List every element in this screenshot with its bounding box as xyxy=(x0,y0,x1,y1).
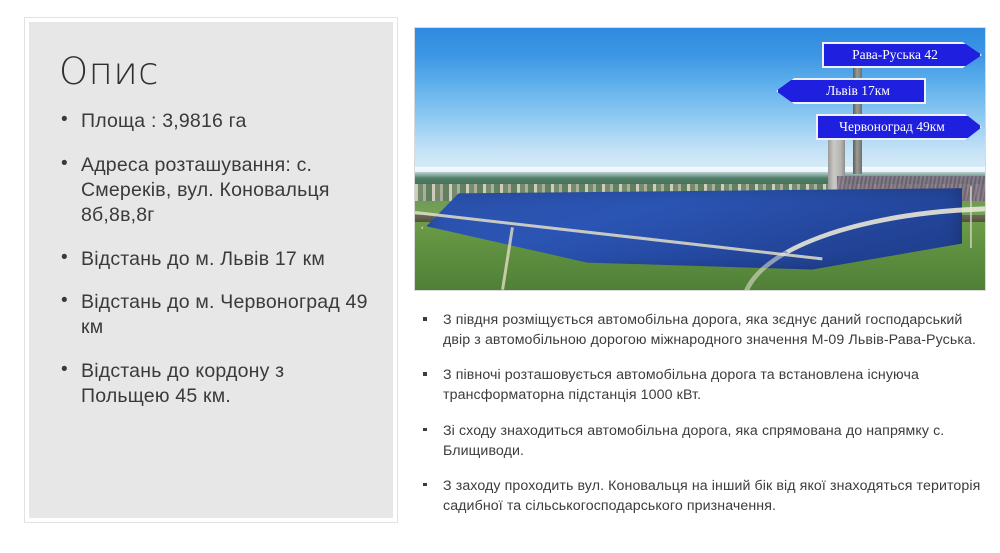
description-panel: Опис Площа : 3,9816 га Адреса розташуван… xyxy=(25,18,397,522)
list-item: Відстань до м. Червоноград 49 км xyxy=(57,290,375,340)
direction-signpost: Рава-Руська 42 Львів 17км Червоноград 49… xyxy=(770,34,980,169)
list-item: З півночі розташовується автомобільна до… xyxy=(413,365,989,405)
road-sign-rava-ruska: Рава-Руська 42 xyxy=(822,42,982,68)
list-item: Відстань до м. Львів 17 км xyxy=(57,247,375,272)
list-item: Зі сходу знаходиться автомобільна дорога… xyxy=(413,421,989,461)
location-bullet-list: З півдня розміщується автомобільна дорог… xyxy=(413,310,989,516)
photo-scene: Рава-Руська 42 Львів 17км Червоноград 49… xyxy=(415,28,985,290)
list-item: Площа : 3,9816 га xyxy=(57,109,375,134)
description-panel-content: Опис Площа : 3,9816 га Адреса розташуван… xyxy=(29,22,393,518)
road-sign-lviv: Львів 17км xyxy=(776,78,926,104)
right-column: Рава-Руська 42 Львів 17км Червоноград 49… xyxy=(405,18,990,528)
page-title: Опис xyxy=(59,52,375,93)
aerial-photo: Рава-Руська 42 Львів 17км Червоноград 49… xyxy=(415,28,985,290)
list-item: Адреса розташування: с. Смереків, вул. К… xyxy=(57,153,375,228)
list-item: З півдня розміщується автомобільна дорог… xyxy=(413,310,989,350)
list-item: Відстань до кордону з Польщею 45 км. xyxy=(57,359,375,409)
location-notes: З півдня розміщується автомобільна дорог… xyxy=(413,310,989,531)
description-bullet-list: Площа : 3,9816 га Адреса розташування: с… xyxy=(57,109,375,410)
road-sign-chervonohrad: Червоноград 49км xyxy=(816,114,982,140)
list-item: З заходу проходить вул. Коновальця на ін… xyxy=(413,476,989,516)
